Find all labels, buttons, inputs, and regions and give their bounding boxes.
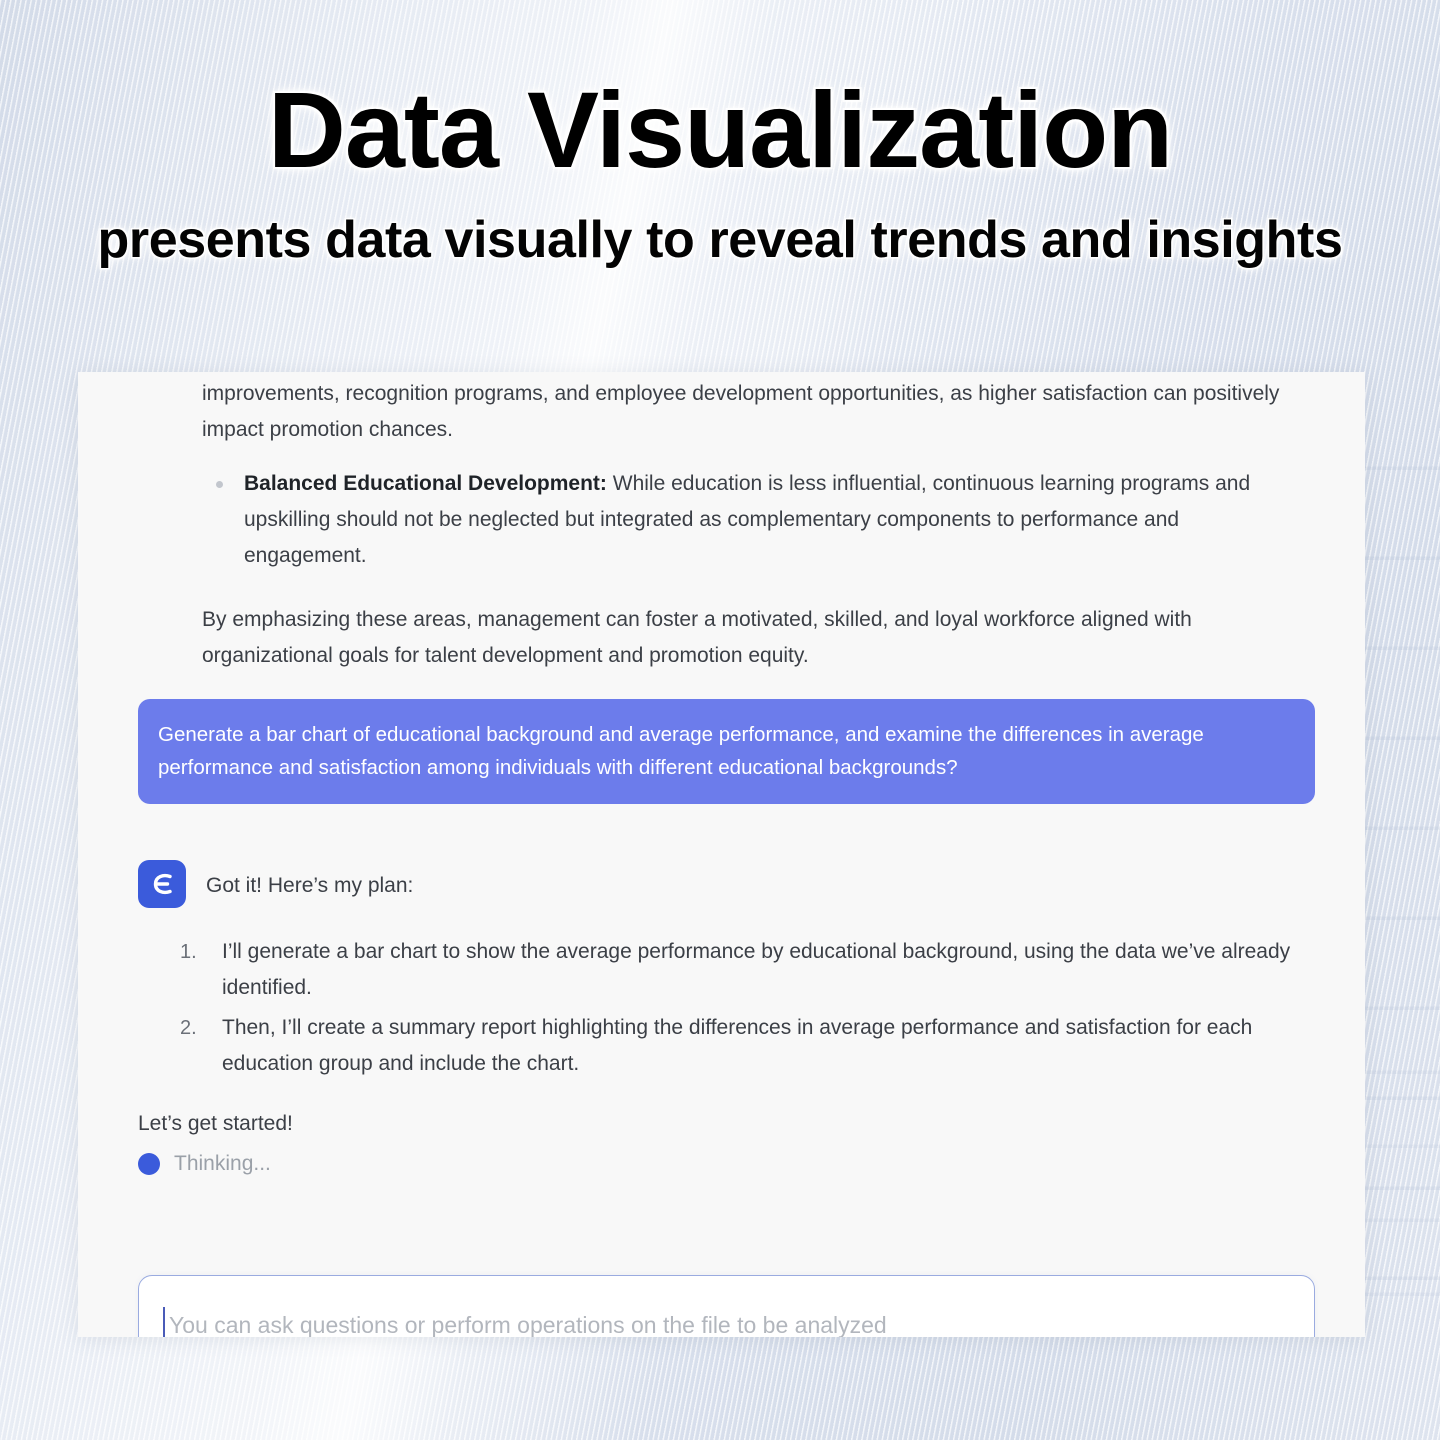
assistant-message: Got it! Here’s my plan: 1. I’ll generate… [138, 866, 1318, 1176]
thinking-label: Thinking... [174, 1152, 271, 1176]
chat-panel: improvements, recognition programs, and … [78, 372, 1365, 1337]
thinking-dot-icon [138, 1153, 160, 1175]
list-item-number: 2. [180, 1010, 197, 1046]
bullet-dot-icon [216, 481, 223, 488]
list-item-number: 1. [180, 934, 197, 970]
page-subtitle: presents data visually to reveal trends … [0, 209, 1440, 271]
header: Data Visualization presents data visuall… [0, 0, 1440, 272]
answer-bullet-list: Balanced Educational Development: While … [202, 466, 1307, 574]
list-item: 1. I’ll generate a bar chart to show the… [180, 934, 1318, 1006]
answer-paragraph-tail: improvements, recognition programs, and … [202, 376, 1307, 448]
status-badge: Thinking... [138, 1152, 1318, 1176]
message-composer[interactable]: You can ask questions or perform operati… [138, 1275, 1315, 1337]
assistant-previous-answer: improvements, recognition programs, and … [202, 376, 1307, 674]
answer-closing-paragraph: By emphasizing these areas, management c… [202, 602, 1307, 674]
page-title: Data Visualization [0, 0, 1440, 193]
assistant-header: Got it! Here’s my plan: [138, 866, 1318, 908]
assistant-greeting: Got it! Here’s my plan: [206, 866, 413, 904]
list-item: Balanced Educational Development: While … [202, 466, 1307, 574]
bullet-label: Balanced Educational Development: [244, 472, 607, 495]
assistant-avatar-icon [138, 860, 186, 908]
user-message-text: Generate a bar chart of educational back… [158, 723, 1204, 779]
list-item: 2. Then, I’ll create a summary report hi… [180, 1010, 1318, 1082]
background-banding-secondary [1360, 1000, 1440, 1360]
assistant-closing-line: Let’s get started! [138, 1108, 1318, 1140]
assistant-plan-list: 1. I’ll generate a bar chart to show the… [180, 934, 1318, 1082]
text-caret [163, 1307, 165, 1337]
list-item-text: Then, I’ll create a summary report highl… [222, 1016, 1252, 1075]
user-message-bubble: Generate a bar chart of educational back… [138, 699, 1315, 804]
composer-placeholder: You can ask questions or perform operati… [169, 1308, 887, 1337]
list-item-text: I’ll generate a bar chart to show the av… [222, 940, 1290, 999]
